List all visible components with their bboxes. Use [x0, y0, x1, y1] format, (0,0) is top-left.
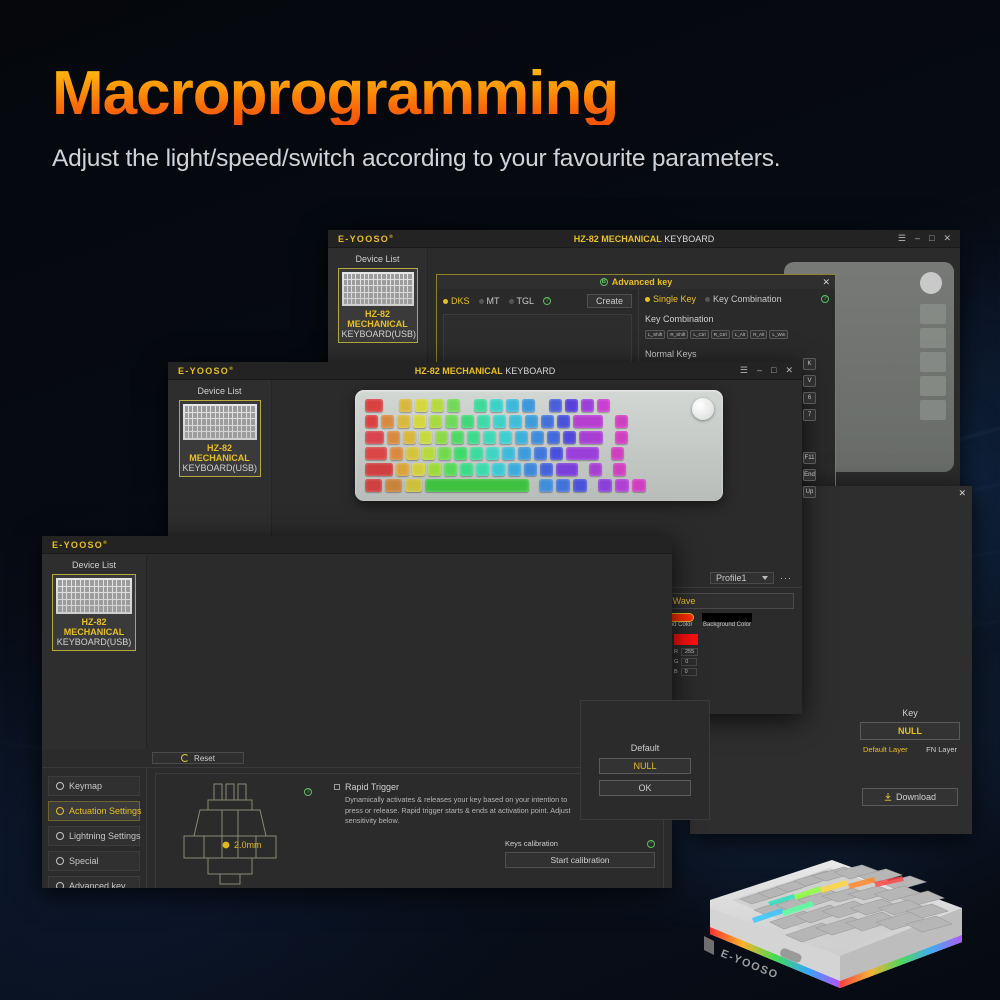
keyboard-key[interactable]: [509, 415, 522, 428]
nav-icon: [56, 832, 64, 840]
device-card[interactable]: HZ-82 MECHANICAL KEYBOARD(USB): [179, 400, 261, 477]
device-name: HZ-82 MECHANICAL: [183, 443, 257, 463]
sidebar-item-label: Actuation Settings: [69, 806, 142, 816]
keyboard-key[interactable]: [454, 447, 467, 460]
brand-logo: E-YOOSO®: [178, 366, 234, 376]
keyboard-key[interactable]: [451, 431, 464, 444]
keyboard-key[interactable]: [525, 415, 538, 428]
keyboard-key[interactable]: [615, 415, 628, 428]
refresh-icon: [181, 754, 189, 762]
keyboard-row: [365, 479, 713, 492]
window-controls[interactable]: ☰ – □ ✕: [740, 366, 802, 375]
keyboard-key[interactable]: [490, 399, 503, 412]
menu-icon[interactable]: ☰: [898, 234, 906, 243]
keyboard-key[interactable]: [563, 431, 576, 444]
help-icon[interactable]: ?: [647, 840, 655, 848]
chevron-down-icon: [762, 576, 768, 580]
download-label: Download: [896, 792, 936, 802]
keyboard-key[interactable]: [477, 415, 490, 428]
side-key-7[interactable]: 7: [803, 409, 816, 421]
key-panel-group: Key NULL Default Layer FN Layer: [860, 708, 960, 754]
modifier-key-r_ctrl[interactable]: R_Ctrl: [711, 330, 730, 339]
rapid-trigger-checkbox[interactable]: [334, 784, 340, 790]
sidebar-item-keymap[interactable]: Keymap: [48, 776, 140, 796]
modifier-key-l_shift[interactable]: L_Shift: [645, 330, 665, 339]
keyboard-key[interactable]: [566, 447, 599, 460]
key-gap: [590, 479, 595, 492]
nav-icon: [56, 782, 64, 790]
rapid-trigger-label: Rapid Trigger: [345, 782, 399, 792]
keyboard-key[interactable]: [534, 447, 547, 460]
rgb-g-value[interactable]: 0: [681, 658, 697, 666]
radio-dks[interactable]: DKS: [443, 296, 470, 306]
sidebar-item-advanced-key[interactable]: Advanced key: [48, 876, 140, 888]
device-list-label: Device List: [328, 248, 427, 268]
keyboard-key[interactable]: [493, 415, 506, 428]
sidebar-item-special[interactable]: Special: [48, 851, 140, 871]
minimize-icon[interactable]: –: [757, 366, 762, 375]
keyboard-key[interactable]: [365, 463, 393, 476]
rgb-b-field[interactable]: B 0: [674, 668, 698, 676]
keyboard-key[interactable]: [425, 479, 529, 492]
keyboard-key[interactable]: [390, 447, 403, 460]
key-gap: [602, 447, 608, 460]
sidebar-item-label: Advanced key: [69, 881, 126, 888]
keyboard-thumbnail: [183, 404, 257, 440]
keyboard-key[interactable]: [506, 399, 519, 412]
nav-icon: [56, 807, 64, 815]
dialog-badge-icon: B: [600, 278, 608, 286]
side-key-chip-column-1[interactable]: KV67: [803, 358, 816, 421]
keyboard-key[interactable]: [581, 399, 594, 412]
keyboard-key[interactable]: [515, 431, 528, 444]
keyboard-key[interactable]: [438, 447, 451, 460]
reset-button[interactable]: Reset: [152, 752, 244, 764]
key-gap: [606, 431, 612, 444]
minimize-icon[interactable]: –: [915, 234, 920, 243]
background-color-label: Background Color: [702, 622, 752, 628]
default-key-panel[interactable]: Default NULL OK: [580, 700, 710, 820]
switch-diagram-icon: 2.0mm: [170, 778, 290, 888]
keyboard-key[interactable]: [531, 431, 544, 444]
keyboard-key[interactable]: [615, 431, 628, 444]
keyboard-key[interactable]: [412, 463, 425, 476]
keyboard-key[interactable]: [556, 463, 578, 476]
keyboard-key[interactable]: [573, 415, 603, 428]
titlebar[interactable]: E-YOOSO®: [42, 536, 672, 554]
key-label: Key: [860, 708, 960, 718]
keyboard-key[interactable]: [611, 447, 624, 460]
keyboard-key[interactable]: [474, 399, 487, 412]
keyboard-key[interactable]: [589, 463, 602, 476]
modifier-key-row[interactable]: L_ShiftR_ShiftL_CtrlR_CtrlL_AltR_AltL_Wi…: [645, 330, 829, 339]
keyboard-key[interactable]: [422, 447, 435, 460]
keyboard-key[interactable]: [419, 431, 432, 444]
help-icon[interactable]: ?: [304, 788, 312, 796]
keyboard-key[interactable]: [476, 463, 489, 476]
ok-button[interactable]: OK: [599, 780, 691, 796]
rgb-g-label: G: [674, 659, 678, 665]
keyboard-key[interactable]: [405, 479, 422, 492]
keyboard-key[interactable]: [445, 415, 458, 428]
modifier-key-r_shift[interactable]: R_Shift: [667, 330, 688, 339]
keyboard-key[interactable]: [460, 463, 473, 476]
device-list-label: Device List: [168, 380, 271, 400]
rapid-trigger-description: Dynamically activates & releases your ke…: [345, 795, 584, 827]
keyboard-key[interactable]: [547, 431, 560, 444]
key-gap: [581, 463, 586, 476]
keys-calibration-label: Keys calibration: [505, 839, 558, 848]
keyboard-key[interactable]: [387, 431, 400, 444]
key-gap: [386, 399, 396, 412]
side-key-preview-column: [920, 304, 946, 454]
maximize-icon[interactable]: □: [929, 234, 934, 243]
travel-value: 2.0mm: [234, 840, 262, 850]
keyboard-key[interactable]: [365, 415, 378, 428]
side-key-f11[interactable]: F11: [803, 452, 816, 464]
keyboard-key[interactable]: [499, 431, 512, 444]
keyboard-key[interactable]: [381, 415, 394, 428]
profile-select[interactable]: Profile1: [710, 572, 774, 584]
rgb-b-value[interactable]: 0: [681, 668, 697, 676]
brand-logo: E-YOOSO®: [52, 540, 108, 550]
side-key-up[interactable]: Up: [803, 486, 816, 498]
close-icon[interactable]: ✕: [785, 366, 793, 375]
window-title: HZ-82 MECHANICAL KEYBOARD: [168, 366, 802, 376]
rgb-b-label: B: [674, 669, 678, 675]
keyboard-key[interactable]: [447, 399, 460, 412]
sidebar-item-actuation-settings[interactable]: Actuation Settings: [48, 801, 140, 821]
window-title: HZ-82 MECHANICAL KEYBOARD: [328, 234, 960, 244]
key-value[interactable]: NULL: [860, 722, 960, 740]
keyboard-key[interactable]: [365, 399, 383, 412]
keyboard-key[interactable]: [385, 479, 402, 492]
side-key-chip-column-2[interactable]: F11EndUp: [803, 452, 816, 498]
keyboard-key[interactable]: [556, 479, 570, 492]
radio-tgl[interactable]: TGL: [509, 296, 535, 306]
rgb-r-label: R: [674, 649, 678, 655]
side-key-end[interactable]: End: [803, 469, 816, 481]
keyboard-key[interactable]: [467, 431, 480, 444]
keyboard-key[interactable]: [598, 479, 612, 492]
device-name: HZ-82 MECHANICAL: [56, 617, 132, 637]
tab-default-layer[interactable]: Default Layer: [863, 745, 908, 754]
device-list-label: Device List: [42, 554, 146, 574]
radio-key-combination[interactable]: Key Combination: [705, 294, 782, 304]
profile-selector-wrap[interactable]: Profile1 ···: [710, 572, 792, 584]
keyboard-row: [365, 415, 713, 428]
keyboard-key[interactable]: [597, 399, 610, 412]
keyboard-key[interactable]: [431, 399, 444, 412]
keyboard-key[interactable]: [486, 447, 499, 460]
radio-mt[interactable]: MT: [479, 296, 500, 306]
reset-row: Reset Profile1 ···: [42, 750, 672, 768]
keyboard-photo-illustration: E-YOOSO: [662, 838, 1000, 1000]
rgb-r-value[interactable]: 255: [681, 648, 698, 656]
device-card[interactable]: HZ-82 MECHANICAL KEYBOARD(USB): [338, 268, 418, 343]
keyboard-row: [365, 463, 713, 476]
key-mode-radios[interactable]: Single Key Key Combination ?: [645, 294, 829, 304]
keyboard-key[interactable]: [613, 463, 626, 476]
rgb-g-field[interactable]: G 0: [674, 658, 698, 666]
reset-label: Reset: [194, 754, 215, 763]
modifier-key-r_alt[interactable]: R_Alt: [750, 330, 767, 339]
window-controls[interactable]: ☰ – □ ✕: [898, 234, 960, 243]
keyboard-key[interactable]: [429, 415, 442, 428]
keyboard-key[interactable]: [413, 415, 426, 428]
device-card[interactable]: HZ-82 MECHANICAL KEYBOARD(USB): [52, 574, 136, 651]
keyboard-key[interactable]: [579, 431, 603, 444]
keyboard-key[interactable]: [435, 431, 448, 444]
sidebar-item-label: Special: [69, 856, 99, 866]
keyboard-key[interactable]: [557, 415, 570, 428]
keyboard-key[interactable]: [396, 463, 409, 476]
keyboard-key[interactable]: [492, 463, 505, 476]
keyboard-product-photo: E-YOOSO: [662, 838, 1000, 1000]
more-options-icon[interactable]: ···: [780, 573, 792, 583]
key-gap: [605, 463, 610, 476]
keyboard-key[interactable]: [550, 447, 563, 460]
keyboard-row: [365, 399, 713, 412]
keyboard-key[interactable]: [461, 415, 474, 428]
keyboard-key[interactable]: [565, 399, 578, 412]
keyboard-key[interactable]: [428, 463, 441, 476]
layer-tabs[interactable]: Default Layer FN Layer: [860, 745, 960, 754]
keyboard-key[interactable]: [573, 479, 587, 492]
keyboard-key[interactable]: [415, 399, 428, 412]
close-icon[interactable]: ✕: [943, 234, 951, 243]
modifier-key-l_ctrl[interactable]: L_Ctrl: [690, 330, 708, 339]
help-icon[interactable]: ?: [821, 295, 829, 303]
keyboard-key[interactable]: [549, 399, 562, 412]
modifier-key-l_win[interactable]: L_Win: [769, 330, 788, 339]
dks-mode-radios[interactable]: DKS MT TGL ? Create: [443, 294, 632, 308]
titlebar[interactable]: E-YOOSO® HZ-82 MECHANICAL KEYBOARD ☰ – □…: [168, 362, 802, 380]
titlebar[interactable]: E-YOOSO® HZ-82 MECHANICAL KEYBOARD ☰ – □…: [328, 230, 960, 248]
keys-calibration-group: Keys calibration ? Start calibration: [505, 839, 655, 868]
keyboard-key[interactable]: [403, 431, 416, 444]
radio-single-key[interactable]: Single Key: [645, 294, 696, 304]
keyboard-key[interactable]: [502, 447, 515, 460]
background-color-swatch[interactable]: Background Color: [702, 613, 752, 628]
keyboard-key[interactable]: [541, 415, 554, 428]
key-gap: [532, 479, 536, 492]
nav-icon: [56, 882, 64, 888]
keyboard-key[interactable]: [444, 463, 457, 476]
default-value[interactable]: NULL: [599, 758, 691, 774]
sidebar-item-label: Lightning Settings: [69, 831, 141, 841]
keyboard-key[interactable]: [399, 399, 412, 412]
device-sub: KEYBOARD(USB): [342, 329, 414, 339]
sidebar-nav-bottomleft[interactable]: KeymapActuation SettingsLightning Settin…: [42, 768, 146, 888]
keyboard-key[interactable]: [365, 479, 382, 492]
brand-logo: E-YOOSO®: [338, 234, 394, 244]
key-gap: [606, 415, 612, 428]
download-icon: [884, 793, 892, 801]
key-gap: [538, 399, 546, 412]
keyboard-key[interactable]: [522, 399, 535, 412]
tab-fn-layer[interactable]: FN Layer: [926, 745, 957, 754]
close-icon[interactable]: ✕: [958, 488, 966, 499]
menu-icon[interactable]: ☰: [740, 366, 748, 375]
device-sub: KEYBOARD(USB): [56, 637, 132, 647]
dialog-title: Advanced key: [612, 277, 673, 287]
page-title: Macroprogramming: [52, 62, 972, 125]
device-sub: KEYBOARD(USB): [183, 463, 257, 473]
start-calibration-button[interactable]: Start calibration: [505, 852, 655, 868]
keyboard-key[interactable]: [397, 415, 410, 428]
keyboard-key[interactable]: [508, 463, 521, 476]
keyboard-key[interactable]: [539, 479, 553, 492]
knob-preview: [920, 272, 942, 294]
keyboard-key[interactable]: [483, 431, 496, 444]
keyboard-key[interactable]: [470, 447, 483, 460]
keyboard-key[interactable]: [615, 479, 629, 492]
modifier-key-l_alt[interactable]: L_Alt: [732, 330, 748, 339]
maximize-icon[interactable]: □: [771, 366, 776, 375]
profile-value: Profile1: [716, 573, 747, 583]
dialog-close-icon[interactable]: ✕: [822, 277, 830, 288]
dialog-header: B Advanced key ✕: [437, 275, 835, 289]
headline-block: Macroprogramming Adjust the light/speed/…: [52, 62, 972, 173]
keyboard-row: [365, 447, 713, 460]
keyboard-key[interactable]: [518, 447, 531, 460]
side-key-6[interactable]: 6: [803, 392, 816, 404]
keyboard-key[interactable]: [632, 479, 646, 492]
keyboard-row: [365, 431, 713, 444]
side-key-k[interactable]: K: [803, 358, 816, 370]
rgb-r-field[interactable]: R 255: [674, 648, 698, 656]
nav-icon: [56, 857, 64, 865]
page-subtitle: Adjust the light/speed/switch according …: [52, 145, 972, 173]
keyboard-key[interactable]: [524, 463, 537, 476]
key-combination-label: Key Combination: [645, 314, 829, 324]
normal-keys-label: Normal Keys: [645, 349, 829, 359]
side-key-v[interactable]: V: [803, 375, 816, 387]
selected-color-preview: [674, 634, 698, 645]
window-actuation-settings[interactable]: E-YOOSO® Device List HZ-82 MECHANICAL KE…: [42, 536, 672, 888]
keyboard-rows[interactable]: [365, 399, 713, 492]
download-button[interactable]: Download: [862, 788, 958, 806]
keyboard-key[interactable]: [365, 431, 384, 444]
rotary-knob[interactable]: [692, 398, 714, 420]
keyboard-thumbnail: [56, 578, 132, 614]
keyboard-key[interactable]: [406, 447, 419, 460]
keyboard-key[interactable]: [365, 447, 387, 460]
create-button[interactable]: Create: [587, 294, 632, 308]
sidebar-item-label: Keymap: [69, 781, 102, 791]
keyboard-preview[interactable]: [355, 390, 723, 501]
background-color-chip[interactable]: [702, 613, 752, 622]
sidebar-item-lightning-settings[interactable]: Lightning Settings: [48, 826, 140, 846]
device-panel: Device List HZ-82 MECHANICAL KEYBOARD(US…: [42, 554, 147, 750]
keyboard-thumbnail: [342, 272, 414, 306]
keyboard-key[interactable]: [540, 463, 553, 476]
default-label: Default: [581, 743, 709, 753]
key-gap: [463, 399, 471, 412]
help-icon[interactable]: ?: [543, 297, 551, 305]
device-name: HZ-82 MECHANICAL: [342, 309, 414, 329]
